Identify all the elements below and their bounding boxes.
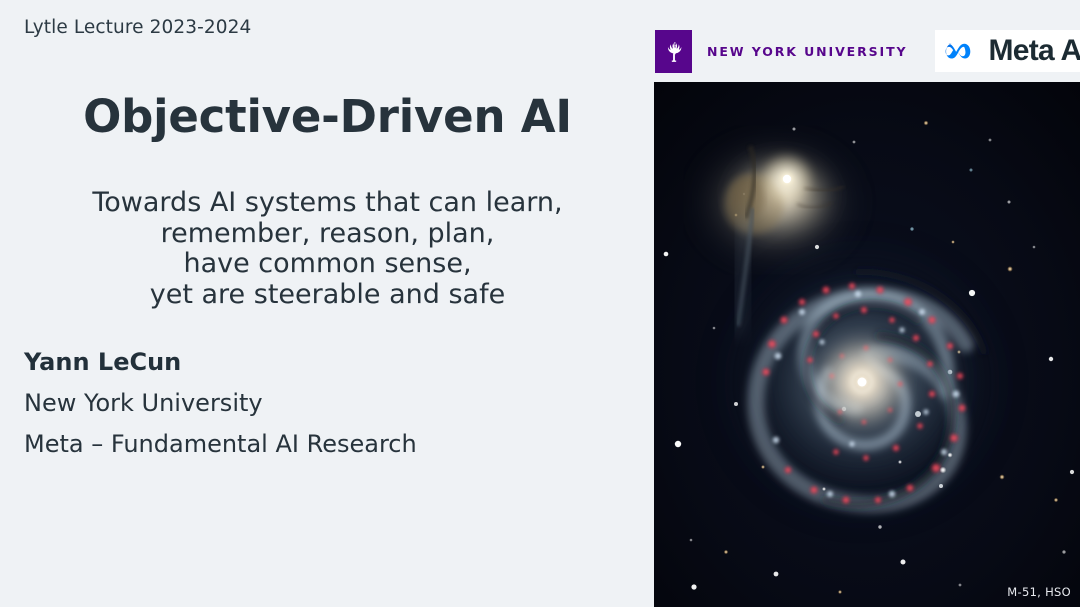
subtitle-line: yet are steerable and safe — [0, 280, 655, 311]
author-name: Yann LeCun — [24, 350, 644, 374]
author-affiliation-university: New York University — [24, 391, 644, 415]
slide-subtitle: Towards AI systems that can learn, remem… — [0, 188, 655, 310]
presentation-slide: Lytle Lecture 2023-2024 NEW YORK UNIVERS… — [0, 0, 1080, 607]
nyu-wordmark: NEW YORK UNIVERSITY — [707, 44, 907, 59]
logo-row: NEW YORK UNIVERSITY Meta AI — [655, 29, 1080, 73]
subtitle-line: remember, reason, plan, — [0, 219, 655, 250]
author-affiliation-lab: Meta – Fundamental AI Research — [24, 432, 644, 456]
subtitle-line: Towards AI systems that can learn, — [0, 188, 655, 219]
meta-infinity-icon — [942, 38, 983, 64]
author-block: Yann LeCun New York University Meta – Fu… — [24, 350, 644, 473]
subtitle-line: have common sense, — [0, 249, 655, 280]
meta-ai-wordmark: Meta AI — [988, 36, 1080, 66]
nyu-logo: NEW YORK UNIVERSITY — [655, 29, 907, 73]
spiral-galaxy-image: M-51, HSO — [654, 82, 1080, 607]
nyu-torch-icon — [655, 30, 692, 73]
photo-caption: M-51, HSO — [1007, 585, 1071, 599]
meta-ai-logo: Meta AI — [935, 30, 1080, 72]
slide-title: Objective-Driven AI — [0, 92, 655, 142]
lecture-series-kicker: Lytle Lecture 2023-2024 — [24, 17, 251, 38]
